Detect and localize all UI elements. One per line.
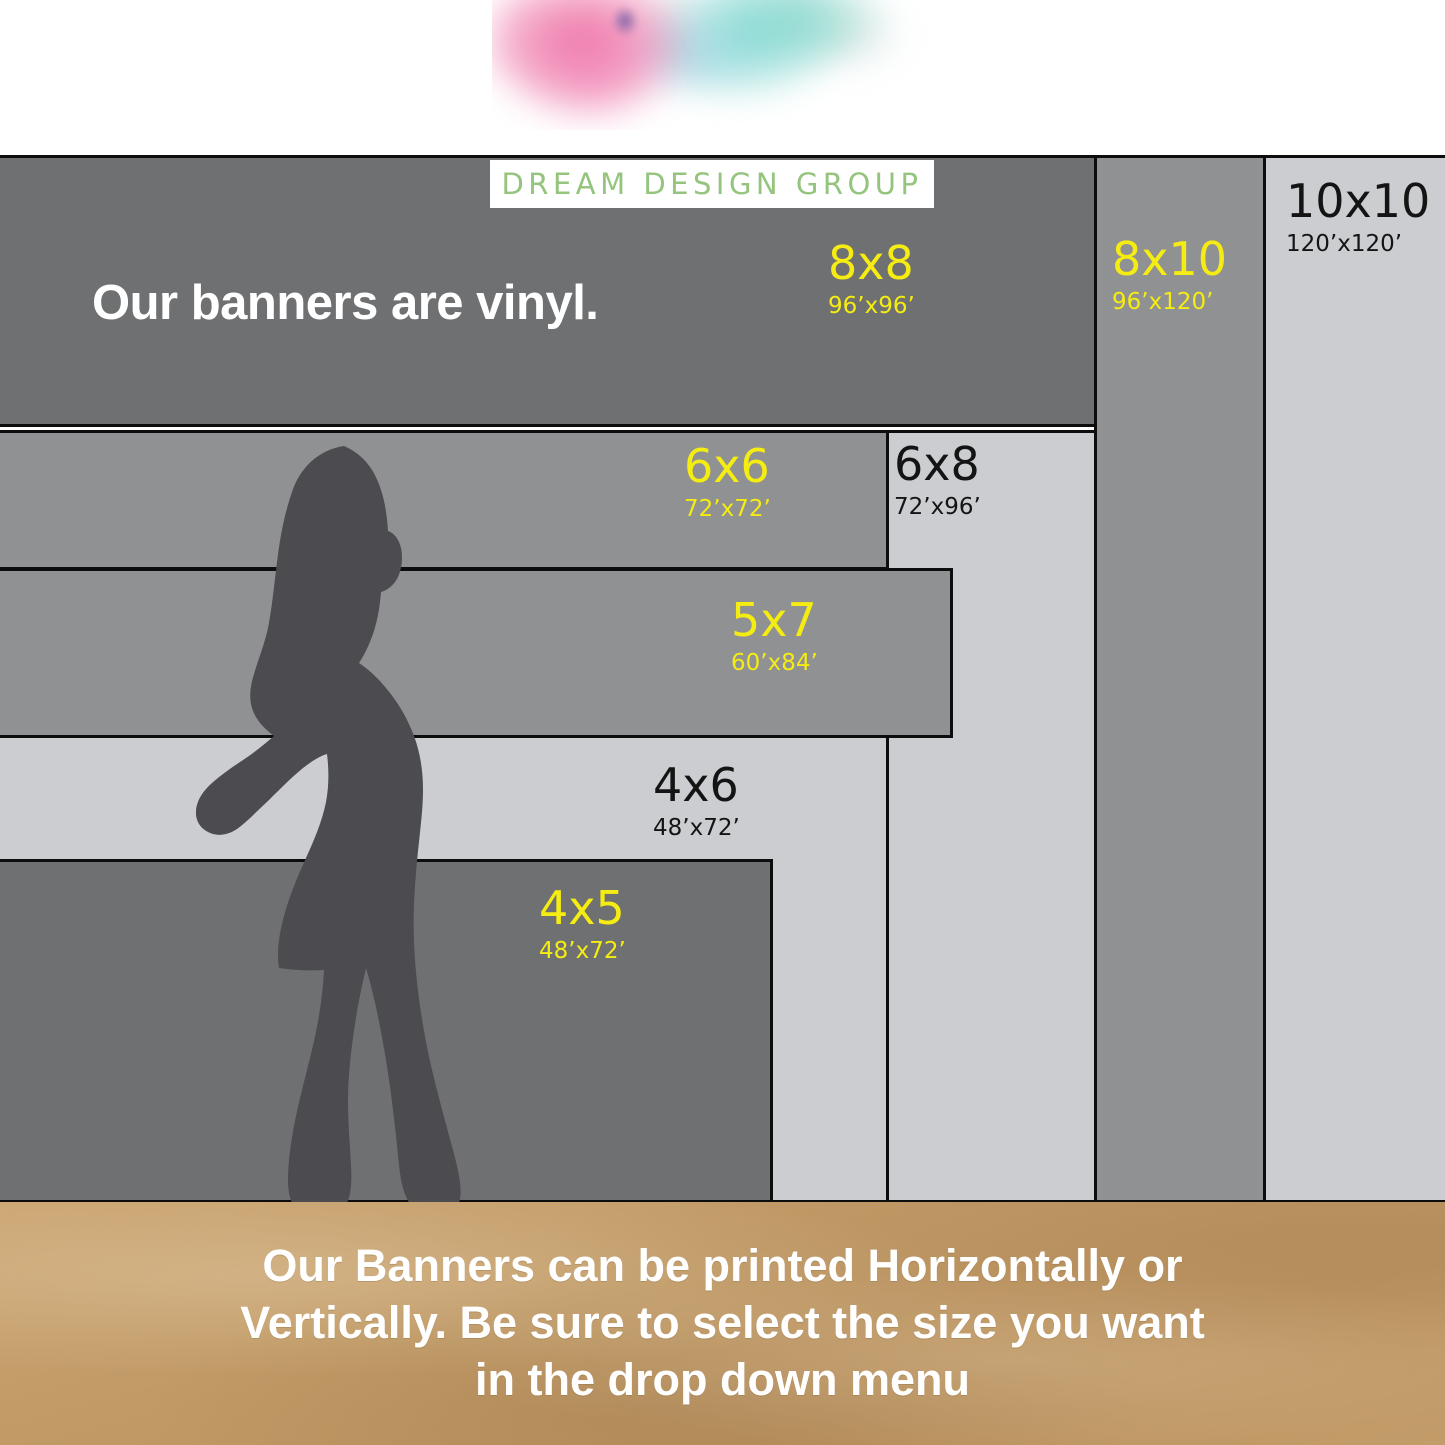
brand-name-text: DREAM DESIGN GROUP: [501, 167, 922, 201]
size-label-10x10: 10x10120’x120’: [1286, 178, 1430, 256]
size-label-dimensions: 48’x72’: [653, 817, 740, 840]
size-label-name: 5x7: [731, 597, 818, 643]
size-label-8x8: 8x896’x96’: [828, 240, 915, 318]
size-label-name: 4x5: [539, 885, 626, 931]
woman-silhouette-icon: [196, 440, 496, 1218]
size-label-dimensions: 72’x72’: [684, 498, 771, 521]
size-label-name: 10x10: [1286, 178, 1430, 224]
size-label-name: 8x10: [1112, 236, 1227, 282]
size-label-dimensions: 120’x120’: [1286, 233, 1430, 256]
size-label-4x5: 4x548’x72’: [539, 885, 626, 963]
size-label-name: 6x6: [684, 443, 771, 489]
woman-silhouette-svg: [196, 440, 496, 1218]
splash-purple-dot-icon: [612, 6, 638, 36]
footer-caption-line: Vertically. Be sure to select the size y…: [240, 1295, 1205, 1352]
footer-caption-line: Our Banners can be printed Horizontally …: [262, 1238, 1182, 1295]
size-label-name: 4x6: [653, 762, 740, 808]
watercolor-logo-mark: [492, 0, 944, 130]
banner-size-chart-graphic: Our banners are vinyl. 8x896’x96’8x1096’…: [0, 0, 1445, 1445]
footer-caption-line: in the drop down menu: [475, 1352, 970, 1409]
banner-rect-10x10: [1263, 155, 1445, 1203]
size-label-4x6: 4x648’x72’: [653, 762, 740, 840]
size-label-dimensions: 48’x72’: [539, 940, 626, 963]
page-headline: Our banners are vinyl.: [92, 275, 598, 331]
size-label-name: 6x8: [894, 441, 981, 487]
banner-rect-6x8: [886, 430, 1097, 1203]
size-label-5x7: 5x760’x84’: [731, 597, 818, 675]
size-label-6x8: 6x872’x96’: [894, 441, 981, 519]
footer-caption-banner: Our Banners can be printed Horizontally …: [0, 1202, 1445, 1445]
size-label-8x10: 8x1096’x120’: [1112, 236, 1227, 314]
size-label-dimensions: 96’x120’: [1112, 291, 1227, 314]
size-label-name: 8x8: [828, 240, 915, 286]
size-label-dimensions: 60’x84’: [731, 652, 818, 675]
size-label-6x6: 6x672’x72’: [684, 443, 771, 521]
size-label-dimensions: 72’x96’: [894, 496, 981, 519]
splash-pink-secondary-icon: [518, 20, 668, 130]
size-label-dimensions: 96’x96’: [828, 295, 915, 318]
brand-name-plate: DREAM DESIGN GROUP: [490, 160, 934, 208]
